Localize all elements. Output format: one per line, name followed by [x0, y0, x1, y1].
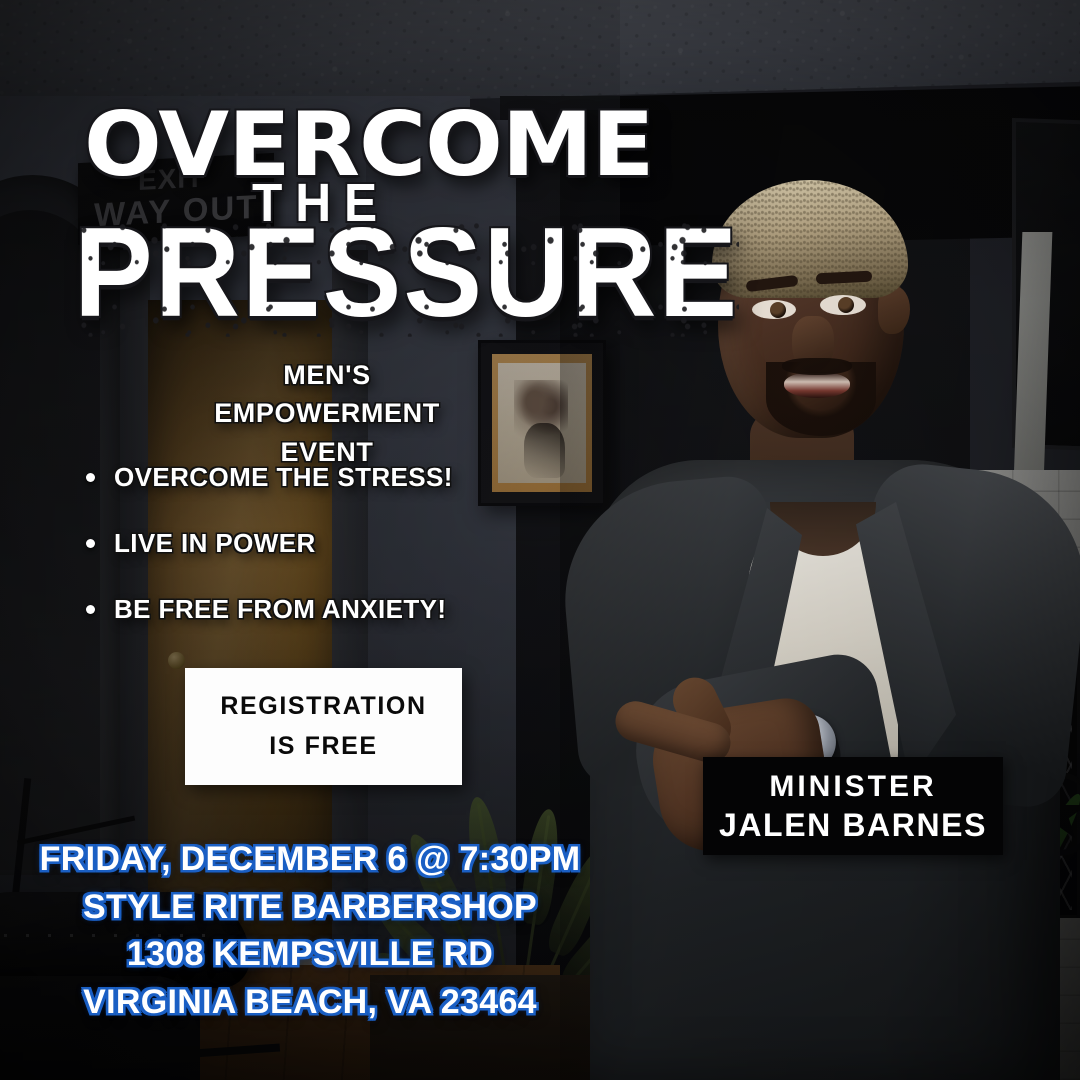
registration-line1: REGISTRATION: [220, 694, 426, 719]
eye-left: [752, 300, 796, 319]
event-city-state-zip: VIRGINIA BEACH, VA 23464: [0, 979, 620, 1027]
headline-pressure: PRESSURE: [74, 209, 739, 336]
event-date-time: FRIDAY, DECEMBER 6 @ 7:30PM: [0, 836, 620, 884]
registration-line2: IS FREE: [269, 734, 377, 759]
mouth: [784, 372, 850, 398]
benefits-list: OVERCOME THE STRESS! LIVE IN POWER BE FR…: [80, 462, 550, 660]
speaker-name-badge: MINISTER JALEN BARNES: [703, 757, 1003, 855]
list-item: BE FREE FROM ANXIETY!: [80, 594, 550, 625]
event-street: 1308 KEMPSVILLE RD: [0, 931, 620, 979]
registration-badge: REGISTRATION IS FREE: [185, 668, 462, 785]
mustache: [782, 358, 852, 375]
speaker-title: MINISTER: [769, 772, 936, 802]
headline-pressure-text: PRESSURE: [74, 202, 739, 345]
event-subtitle: MEN'S EMPOWERMENT EVENT: [172, 356, 482, 471]
eye-right: [820, 295, 866, 315]
blonde-fade-hair: [712, 180, 908, 298]
list-item: LIVE IN POWER: [80, 528, 550, 559]
list-item: OVERCOME THE STRESS!: [80, 462, 550, 493]
event-details: FRIDAY, DECEMBER 6 @ 7:30PM STYLE RITE B…: [0, 836, 620, 1026]
event-flyer: EXIT WAY OUT: [0, 0, 1080, 1080]
event-venue: STYLE RITE BARBERSHOP: [0, 884, 620, 932]
speaker-name: JALEN BARNES: [719, 809, 987, 841]
